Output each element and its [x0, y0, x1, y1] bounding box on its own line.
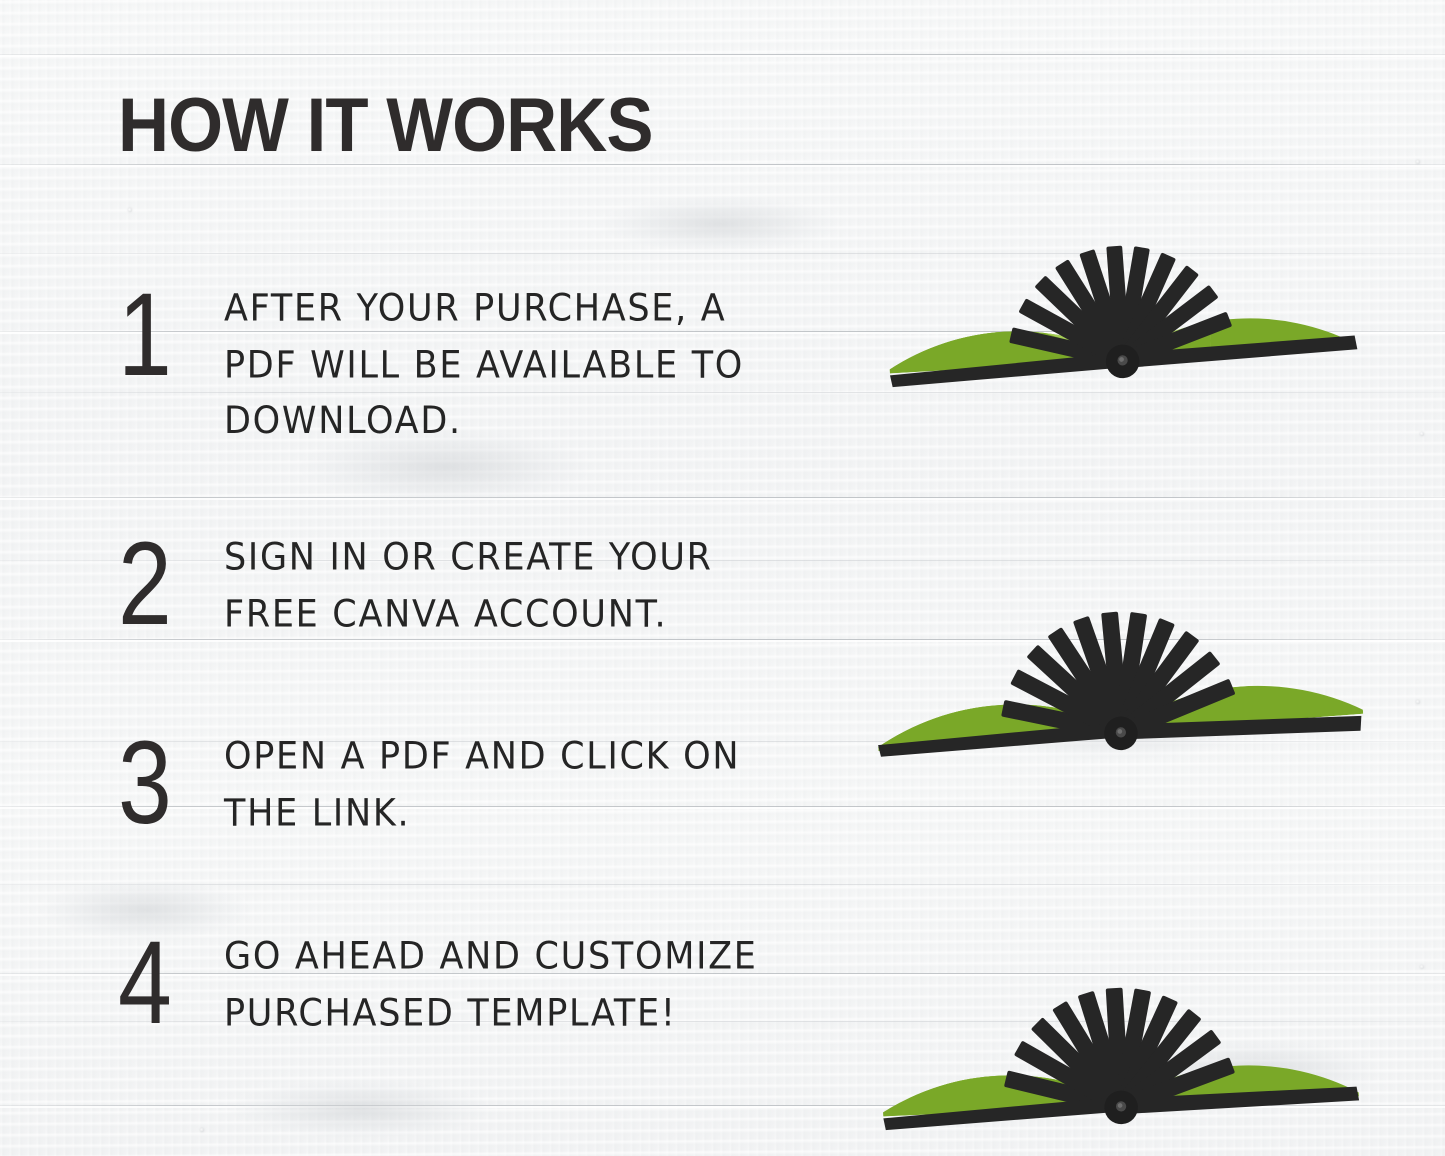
step-text: After your purchase, a PDF will be avail…: [224, 281, 794, 450]
sheep-figure: [914, 291, 926, 300]
cloud-shape: [1017, 113, 1145, 176]
step-item-4: 4 Go ahead and customize purchased templ…: [118, 929, 794, 1038]
small-cloud: [962, 502, 990, 530]
step-item-3: 3 Open a PDF and click on the link.: [118, 729, 794, 838]
step-text: Open a PDF and click on the link.: [224, 729, 794, 841]
instructions-column: HOW IT WORKS 1 After your purchase, a PD…: [0, 0, 860, 1156]
step-item-1: 1 After your purchase, a PDF will be ava…: [118, 281, 794, 439]
step-number: 4: [118, 929, 205, 1038]
page-title: HOW IT WORKS: [118, 88, 653, 164]
wood-nail: [1416, 700, 1420, 704]
sheep-figure: [910, 1030, 922, 1039]
hand-fan-illustration-1: [884, 86, 1358, 386]
step-number: 3: [118, 729, 205, 838]
step-number: 1: [118, 281, 205, 390]
step-text: Sign in or create your free Canva accoun…: [224, 530, 794, 642]
cloud-shape: [1065, 463, 1204, 543]
small-cloud: [922, 883, 949, 910]
step-text: Go ahead and customize purchased templat…: [224, 929, 794, 1041]
sheep-figure: [910, 653, 922, 663]
step-number: 2: [118, 530, 205, 639]
small-cloud: [922, 150, 949, 177]
wood-nail: [1416, 160, 1420, 164]
wood-nail: [1420, 432, 1424, 436]
hand-fan-illustration-3: [878, 826, 1362, 1132]
cloud-shape: [1014, 838, 1146, 912]
step-item-2: 2 Sign in or create your free Canva acco…: [118, 530, 794, 639]
hand-fan-illustration-2: [872, 446, 1366, 758]
wood-nail: [1420, 965, 1424, 969]
